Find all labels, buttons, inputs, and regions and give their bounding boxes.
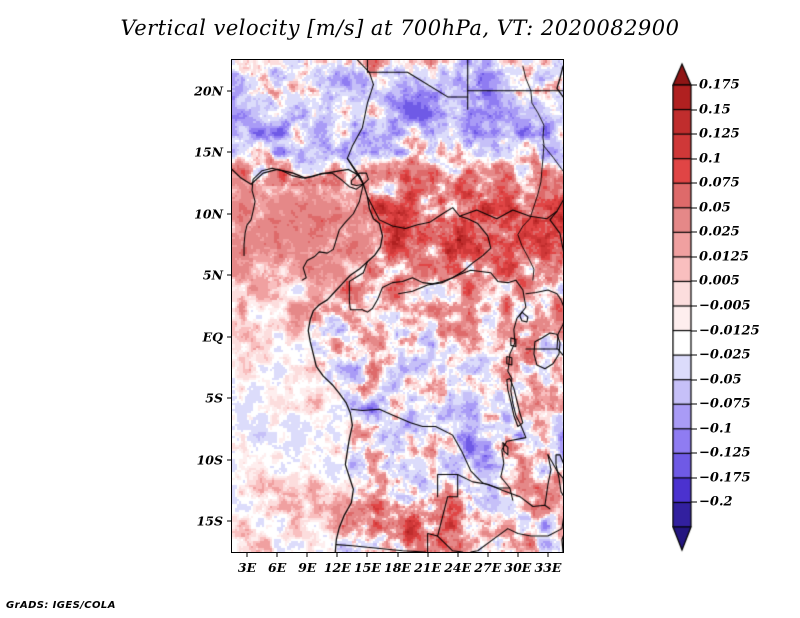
x-axis-tick-mark	[487, 552, 488, 557]
colorbar-tick-mark	[691, 158, 697, 159]
colorbar-tick-mark	[691, 330, 697, 331]
colorbar-tick-mark	[691, 379, 697, 380]
x-axis-tick-mark	[367, 552, 368, 557]
colorbar-tick-label: 0.175	[699, 78, 740, 93]
colorbar-tick-mark	[691, 281, 697, 282]
vertical-velocity-field	[232, 60, 563, 552]
colorbar-tick-label: −0.175	[699, 470, 751, 485]
colorbar-tick-mark	[691, 502, 697, 503]
x-axis-tick-mark	[427, 552, 428, 557]
x-axis-tick-label: 30E	[504, 560, 531, 575]
colorbar-tick-mark	[691, 256, 697, 257]
colorbar-tick-mark	[691, 477, 697, 478]
colorbar-tick-label: −0.05	[699, 372, 742, 387]
y-axis-tick-label: 15S	[197, 514, 223, 529]
y-axis-tick-label: 20N	[194, 83, 223, 98]
x-axis-tick-label: 27E	[474, 560, 501, 575]
colorbar-tick-label: 0.1	[699, 151, 722, 166]
y-axis-tick-mark	[227, 275, 232, 276]
colorbar-tick-mark	[691, 428, 697, 429]
colorbar-tick-label: 0.05	[699, 200, 731, 215]
colorbar-tick-label: −0.0125	[699, 323, 760, 338]
y-axis-tick-mark	[227, 90, 232, 91]
x-axis-tick-mark	[247, 552, 248, 557]
y-axis-tick-label: EQ	[203, 329, 223, 344]
colorbar-tick-mark	[691, 355, 697, 356]
x-axis-tick-label: 33E	[534, 560, 561, 575]
colorbar-tick-label: −0.1	[699, 421, 733, 436]
colorbar-tick-label: −0.2	[699, 495, 733, 510]
colorbar-tick-label: 0.15	[699, 102, 731, 117]
colorbar: 0.1750.150.1250.10.0750.050.0250.01250.0…	[672, 62, 792, 554]
colorbar-tick-label: 0.075	[699, 176, 740, 191]
colorbar-tick-label: −0.125	[699, 446, 751, 461]
colorbar-tick-label: 0.005	[699, 274, 740, 289]
colorbar-tick-mark	[691, 109, 697, 110]
x-axis-tick-mark	[457, 552, 458, 557]
x-axis-tick-label: 15E	[354, 560, 381, 575]
credit-label: GrADS: IGES/COLA	[6, 600, 116, 611]
colorbar-tick-mark	[691, 404, 697, 405]
x-axis-tick-label: 6E	[268, 560, 286, 575]
y-axis-tick-label: 5N	[203, 268, 223, 283]
x-axis-tick-label: 18E	[384, 560, 411, 575]
y-axis-tick-label: 10N	[194, 206, 223, 221]
y-axis-tick-mark	[227, 398, 232, 399]
colorbar-tick-mark	[691, 453, 697, 454]
y-axis-tick-mark	[227, 521, 232, 522]
x-axis-tick-mark	[307, 552, 308, 557]
y-axis-tick-mark	[227, 152, 232, 153]
x-axis-tick-mark	[397, 552, 398, 557]
y-axis-tick-mark	[227, 213, 232, 214]
y-axis-tick-label: 15N	[194, 145, 223, 160]
colorbar-tick-mark	[691, 306, 697, 307]
colorbar-tick-label: 0.025	[699, 225, 740, 240]
colorbar-tick-label: −0.075	[699, 397, 751, 412]
x-axis-tick-mark	[337, 552, 338, 557]
map-plot-area: 20N15N10N5NEQ5S10S15S3E6E9E12E15E18E21E2…	[232, 60, 563, 552]
y-axis-tick-label: 10S	[197, 452, 223, 467]
colorbar-tick-mark	[691, 232, 697, 233]
x-axis-tick-label: 24E	[444, 560, 471, 575]
page-title: Vertical velocity [m/s] at 700hPa, VT: 2…	[0, 16, 800, 40]
x-axis-tick-mark	[277, 552, 278, 557]
colorbar-tick-mark	[691, 183, 697, 184]
colorbar-tick-mark	[691, 207, 697, 208]
y-axis-tick-mark	[227, 459, 232, 460]
x-axis-tick-mark	[547, 552, 548, 557]
x-axis-tick-label: 12E	[324, 560, 351, 575]
x-axis-tick-label: 9E	[298, 560, 316, 575]
x-axis-tick-label: 3E	[238, 560, 256, 575]
colorbar-tick-label: 0.125	[699, 127, 740, 142]
x-axis-tick-label: 21E	[414, 560, 441, 575]
y-axis-tick-mark	[227, 336, 232, 337]
colorbar-tick-mark	[691, 134, 697, 135]
colorbar-tick-label: −0.025	[699, 348, 751, 363]
x-axis-tick-mark	[517, 552, 518, 557]
colorbar-tick-label: −0.005	[699, 299, 751, 314]
colorbar-tick-mark	[691, 85, 697, 86]
colorbar-tick-label: 0.0125	[699, 249, 749, 264]
y-axis-tick-label: 5S	[205, 391, 223, 406]
